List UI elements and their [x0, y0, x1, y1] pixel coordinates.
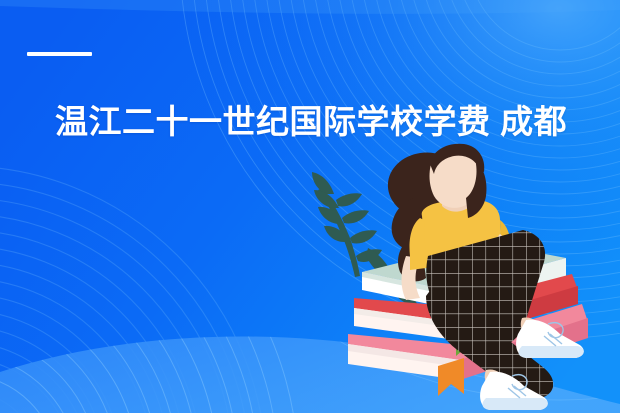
- promo-banner: 温江二十一世纪国际学校学费 成都: [0, 0, 620, 413]
- page-title: 温江二十一世纪国际学校学费 成都: [55, 103, 555, 141]
- accent-rule: [27, 52, 92, 56]
- illustration-woman-on-books: [310, 138, 620, 413]
